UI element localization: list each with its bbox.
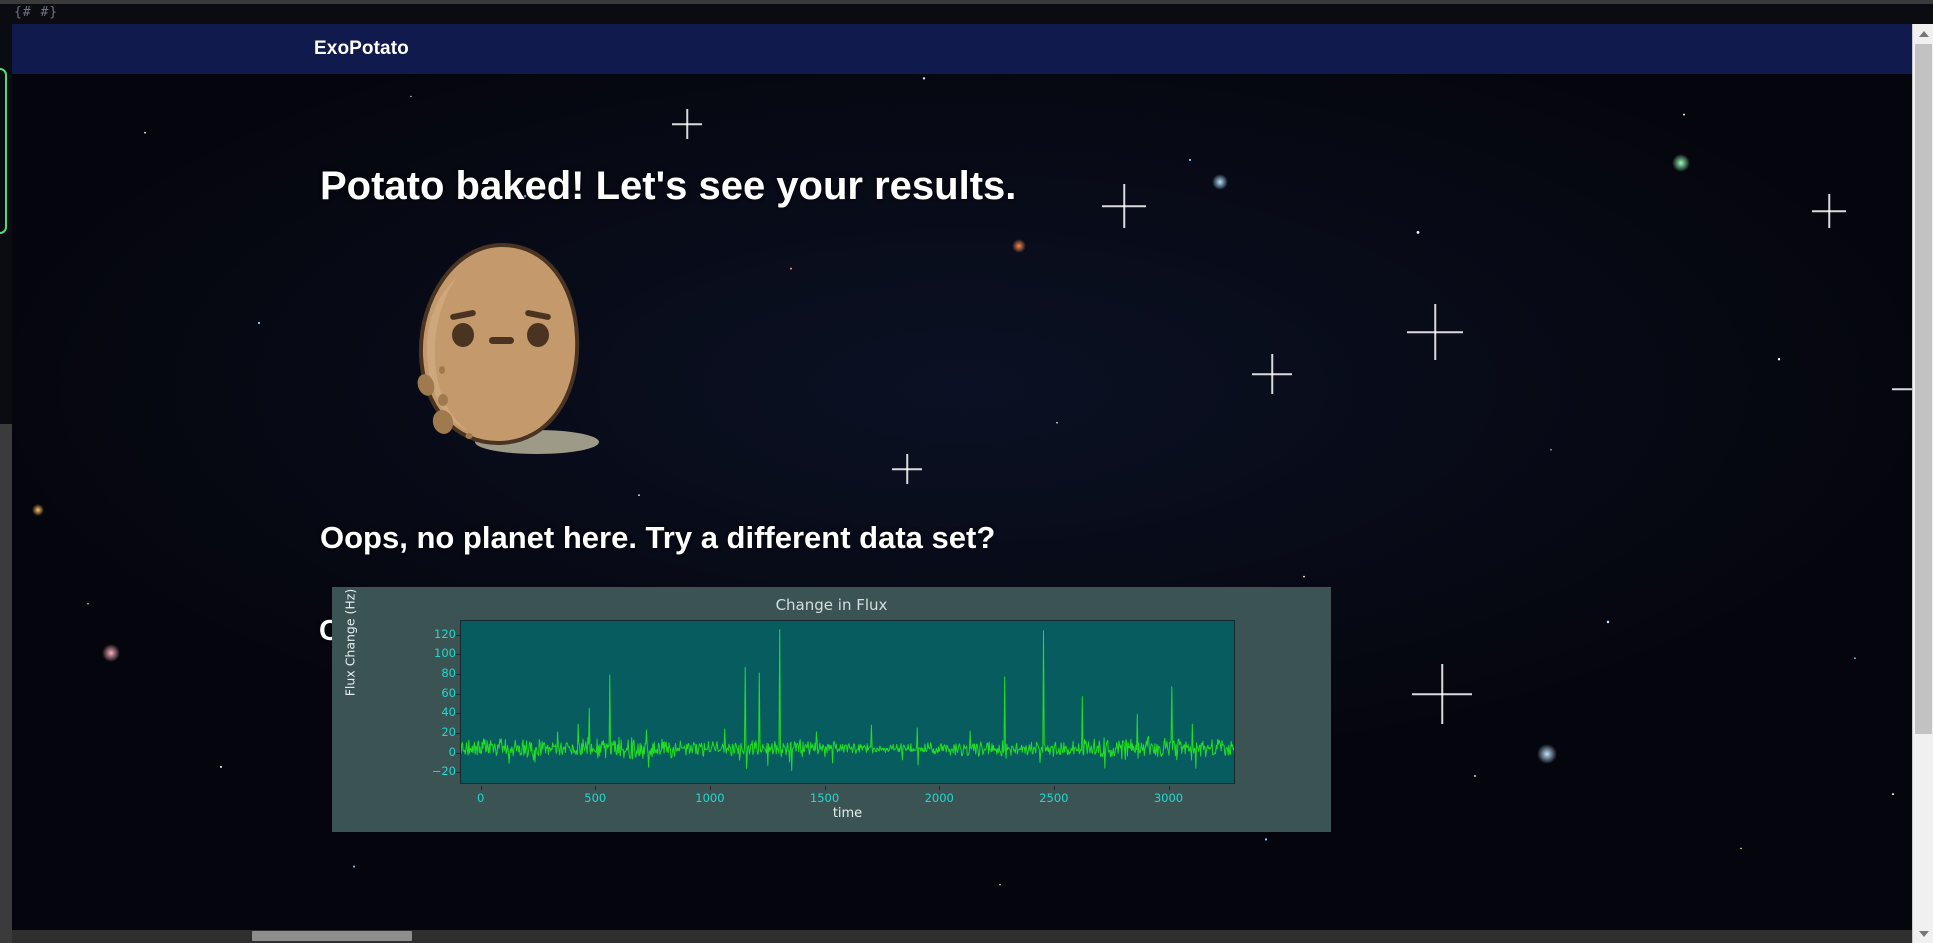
chart-xtick: 1500: [810, 791, 839, 805]
focus-ring-indicator: [0, 68, 7, 234]
vertical-scrollbar[interactable]: [1912, 24, 1933, 943]
chart-ytick-mark: [456, 753, 460, 754]
horizontal-scrollbar-thumb[interactable]: [252, 931, 412, 941]
chart-xtick: 3000: [1154, 791, 1183, 805]
chart-xtick-mark: [1169, 786, 1170, 790]
flux-chart: Change in Flux Flux Change (Hz) −2002040…: [332, 587, 1331, 832]
chart-ytick: −20: [410, 764, 456, 778]
star-flare: [1102, 184, 1146, 228]
potato-mascot: [397, 237, 612, 462]
left-gutter-lower: [0, 424, 12, 943]
template-comment-tag: {# #}: [14, 5, 58, 20]
horizontal-scrollbar[interactable]: [12, 930, 1912, 943]
potato-icon: [397, 237, 612, 462]
chart-ytick-labels: −20020406080100120: [406, 620, 456, 784]
chart-xtick-mark: [1054, 786, 1055, 790]
chart-xtick: 500: [584, 791, 606, 805]
star-glow: [102, 644, 120, 662]
chart-ytick: 80: [410, 666, 456, 680]
chart-xtick-mark: [939, 786, 940, 790]
result-message: Oops, no planet here. Try a different da…: [320, 520, 995, 556]
app-root: ExoPotato Potato baked! Let's see your r…: [0, 0, 1933, 943]
chart-xtick-labels: 050010001500200025003000: [460, 786, 1235, 808]
chart-ytick-mark: [456, 635, 460, 636]
chart-ytick-mark: [456, 733, 460, 734]
star-glow: [1672, 154, 1690, 172]
chart-ytick-mark: [456, 654, 460, 655]
chart-xtick-mark: [595, 786, 596, 790]
star-flare: [1412, 664, 1472, 724]
chart-ytick: 40: [410, 705, 456, 719]
navbar-brand[interactable]: ExoPotato: [314, 38, 409, 60]
star-flare: [1892, 354, 1912, 424]
editor-top-strip: [0, 0, 1933, 24]
chart-xtick-mark: [710, 786, 711, 790]
scroll-down-arrow-icon[interactable]: [1913, 924, 1933, 943]
navbar: ExoPotato: [12, 24, 1912, 74]
chart-ytick-mark: [456, 674, 460, 675]
chart-xlabel: time: [460, 806, 1235, 821]
chart-xtick: 0: [477, 791, 484, 805]
chart-ytick-mark: [456, 772, 460, 773]
star-glow: [1012, 239, 1026, 253]
star-glow: [1212, 174, 1228, 190]
star-glow: [32, 504, 44, 516]
chart-ytick: 60: [410, 686, 456, 700]
chart-ytick: 20: [410, 725, 456, 739]
star-flare: [1252, 354, 1292, 394]
page-title: Potato baked! Let's see your results.: [320, 164, 1016, 209]
vertical-scrollbar-thumb[interactable]: [1915, 44, 1932, 734]
chart-ylabel: Flux Change (Hz): [343, 573, 358, 713]
chart-ytick: 120: [410, 627, 456, 641]
chart-ytick: 100: [410, 646, 456, 660]
scroll-up-arrow-icon[interactable]: [1913, 24, 1933, 43]
chart-ytick: 0: [410, 745, 456, 759]
star-flare: [1407, 304, 1463, 360]
chart-title: Change in Flux: [332, 596, 1331, 614]
chart-xtick-mark: [481, 786, 482, 790]
window-title-bar: [0, 0, 1933, 4]
chart-xtick-mark: [825, 786, 826, 790]
page-background: ExoPotato Potato baked! Let's see your r…: [12, 24, 1912, 930]
chart-plot-area: [460, 620, 1235, 784]
chart-xtick: 2000: [925, 791, 954, 805]
star-flare: [1812, 194, 1846, 228]
flux-line-series: [461, 621, 1235, 784]
chart-ytick-mark: [456, 694, 460, 695]
chart-xtick: 2500: [1039, 791, 1068, 805]
star-glow: [1537, 744, 1557, 764]
chart-ytick-mark: [456, 713, 460, 714]
chart-xtick: 1000: [695, 791, 724, 805]
star-flare: [672, 109, 702, 139]
star-flare: [892, 454, 922, 484]
